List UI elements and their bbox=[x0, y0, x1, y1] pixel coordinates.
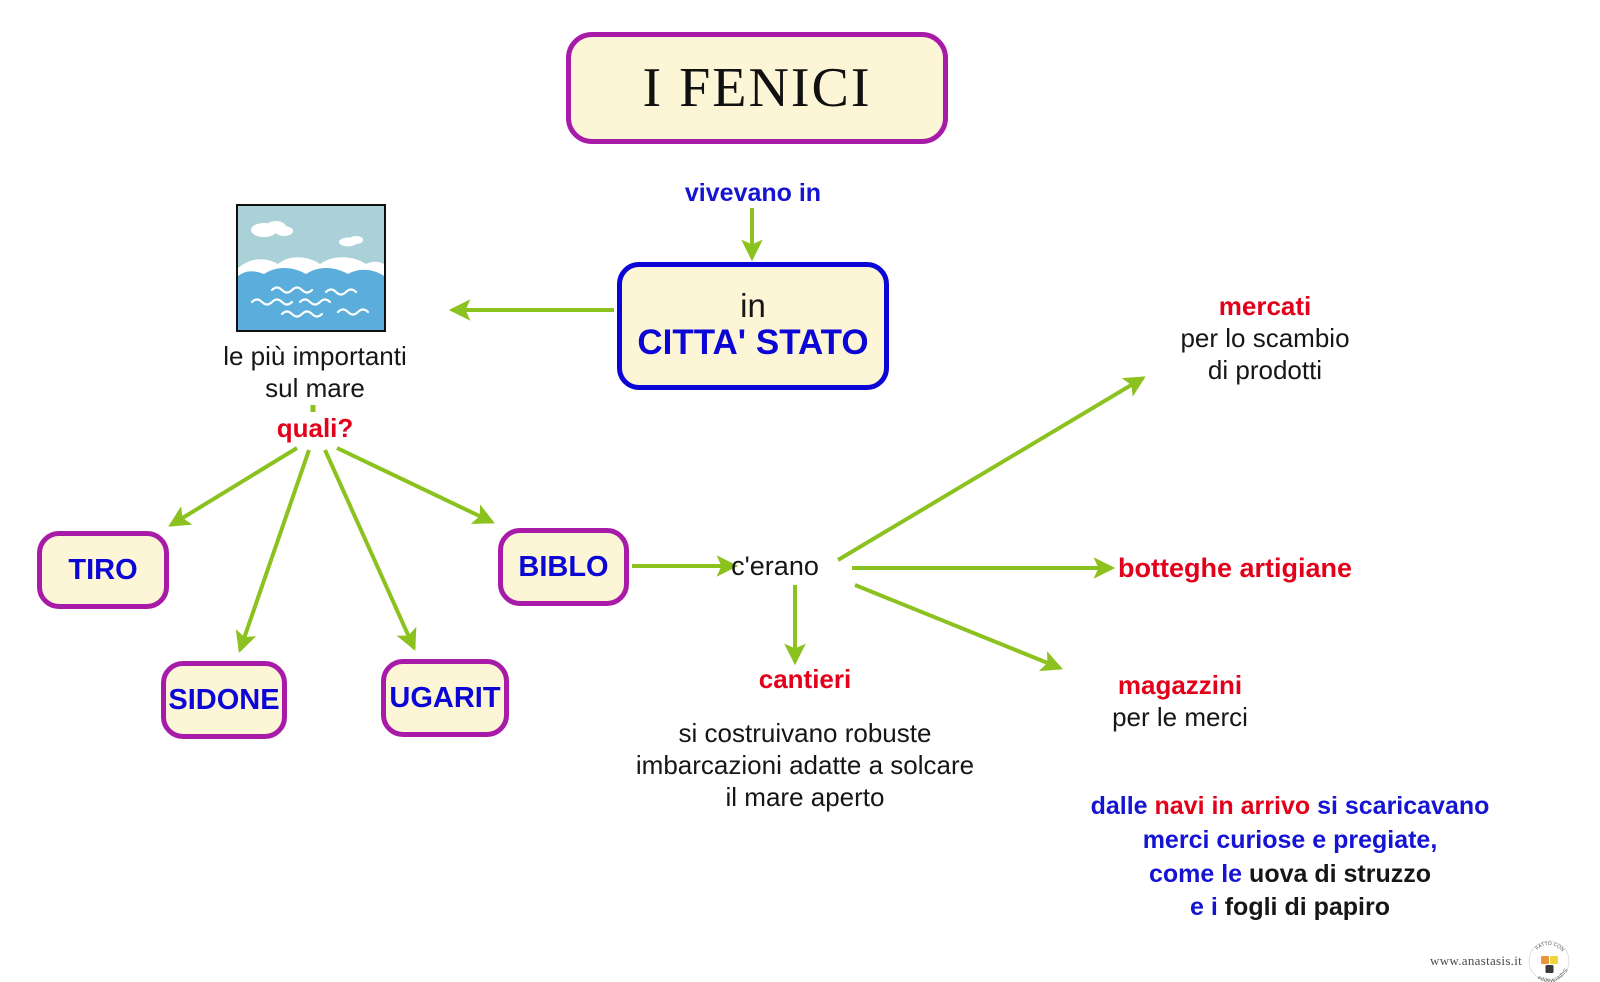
arrow-cerano-to-mercati bbox=[838, 378, 1143, 560]
city-label-biblo: BIBLO bbox=[518, 551, 608, 584]
footer-url[interactable]: www.anastasis.it bbox=[1430, 953, 1522, 969]
concept-map-canvas: I FENICI vivevano in in CITTA' STATO bbox=[0, 0, 1600, 982]
connector-label-quali: quali? bbox=[215, 413, 415, 445]
connector-label-vivevano-in: vivevano in bbox=[618, 178, 888, 209]
sea-caption-line2: sul mare bbox=[175, 373, 455, 405]
branch-cantieri-line2: imbarcazioni adatte a solcare bbox=[605, 750, 1005, 782]
note-l1-b: navi in arrivo bbox=[1155, 792, 1318, 820]
sea-illustration bbox=[236, 204, 386, 332]
branch-magazzini-heading: magazzini bbox=[1040, 670, 1320, 702]
connector-label-cerano: c'erano bbox=[695, 550, 855, 583]
branch-magazzini-line1: per le merci bbox=[1040, 702, 1320, 734]
arrow-quali-to-sidone bbox=[240, 450, 309, 650]
note-navi-in-arrivo: dalle navi in arrivo si scaricavano merc… bbox=[1040, 790, 1540, 925]
note-l4-a: e i bbox=[1190, 893, 1225, 921]
branch-cantieri-line1: si costruivano robuste bbox=[605, 718, 1005, 750]
branch-mercati-heading: mercati bbox=[1120, 291, 1410, 323]
citta-stato-prefix: in bbox=[740, 289, 766, 324]
branch-mercati-line1: per lo scambio bbox=[1120, 323, 1410, 355]
note-l4-b: fogli di papiro bbox=[1225, 893, 1390, 921]
city-label-sidone: SIDONE bbox=[168, 684, 279, 717]
note-line-1: dalle navi in arrivo si scaricavano bbox=[1040, 790, 1540, 824]
note-line-4: e i fogli di papiro bbox=[1040, 891, 1540, 925]
branch-mercati: mercati per lo scambio di prodotti bbox=[1120, 291, 1410, 387]
branch-magazzini: magazzini per le merci bbox=[1040, 670, 1320, 734]
citta-stato-label: CITTA' STATO bbox=[637, 323, 868, 363]
footer: www.anastasis.it FATTO CON SuperMappe bbox=[1430, 940, 1570, 982]
branch-botteghe-heading: botteghe artigiane bbox=[1118, 552, 1418, 585]
node-citta-stato[interactable]: in CITTA' STATO bbox=[617, 262, 889, 390]
note-line-2: merci curiose e pregiate, bbox=[1040, 824, 1540, 858]
title-node[interactable]: I FENICI bbox=[566, 32, 948, 144]
page-title: I FENICI bbox=[642, 60, 871, 116]
branch-cantieri-heading: cantieri bbox=[605, 664, 1005, 696]
branch-cantieri-line3: il mare aperto bbox=[605, 782, 1005, 814]
note-l1-c: si scaricavano bbox=[1317, 792, 1489, 820]
note-line-3: come le uova di struzzo bbox=[1040, 858, 1540, 892]
arrow-quali-to-biblo bbox=[337, 448, 492, 522]
node-city-sidone[interactable]: SIDONE bbox=[161, 661, 287, 739]
note-l3-b: uova di struzzo bbox=[1249, 860, 1431, 888]
branch-cantieri: cantieri si costruivano robuste imbarcaz… bbox=[605, 664, 1005, 814]
node-city-ugarit[interactable]: UGARIT bbox=[381, 659, 509, 737]
node-city-biblo[interactable]: BIBLO bbox=[498, 528, 629, 606]
supermappe-logo-icon: FATTO CON SuperMappe bbox=[1528, 940, 1570, 982]
node-city-tiro[interactable]: TIRO bbox=[37, 531, 169, 609]
sea-caption: le più importanti sul mare bbox=[175, 341, 455, 405]
city-label-tiro: TIRO bbox=[68, 554, 137, 587]
note-l1-a: dalle bbox=[1091, 792, 1155, 820]
arrow-quali-to-ugarit bbox=[325, 450, 414, 648]
note-l3-a: come le bbox=[1149, 860, 1249, 888]
city-label-ugarit: UGARIT bbox=[389, 682, 500, 715]
branch-mercati-line2: di prodotti bbox=[1120, 355, 1410, 387]
arrow-quali-to-tiro bbox=[171, 448, 297, 525]
arrow-cerano-to-magazzini bbox=[855, 585, 1060, 668]
sea-caption-line1: le più importanti bbox=[175, 341, 455, 373]
